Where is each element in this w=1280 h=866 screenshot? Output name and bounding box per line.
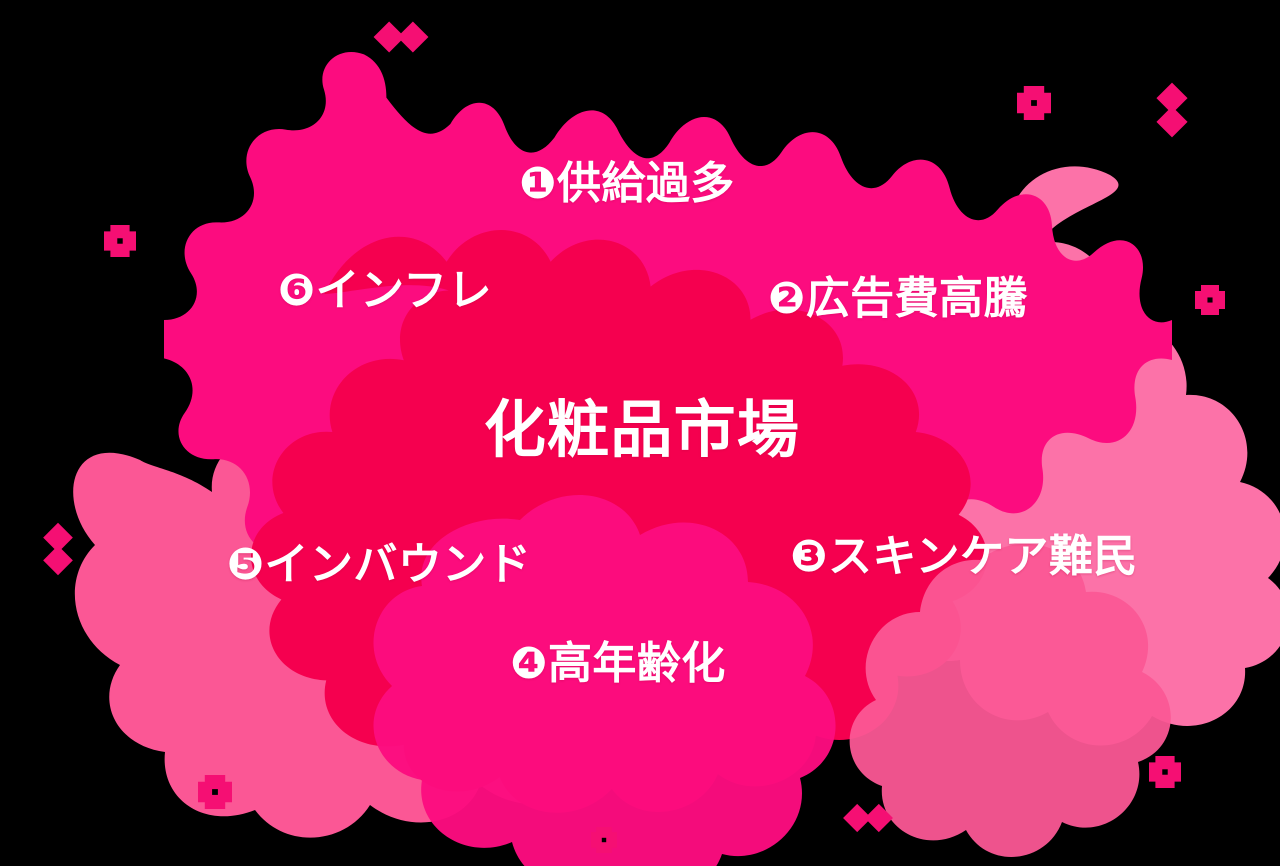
item-label-2: ❷広告費高騰	[768, 277, 1028, 321]
item-label-1: ❶供給過多	[519, 162, 734, 206]
item-label-6: ❻インフレ	[278, 269, 492, 313]
item-label-3: ❸スキンケア難民	[790, 535, 1137, 579]
item-label-4: ❹高年齢化	[510, 642, 725, 686]
item-label-5: ❺インバウンド	[227, 543, 531, 587]
center-title: 化粧品市場	[484, 399, 800, 461]
cosmetics-market-infographic: 化粧品市場 ❶供給過多 ❷広告費高騰 ❸スキンケア難民 ❹高年齢化 ❺インバウン…	[0, 0, 1280, 866]
